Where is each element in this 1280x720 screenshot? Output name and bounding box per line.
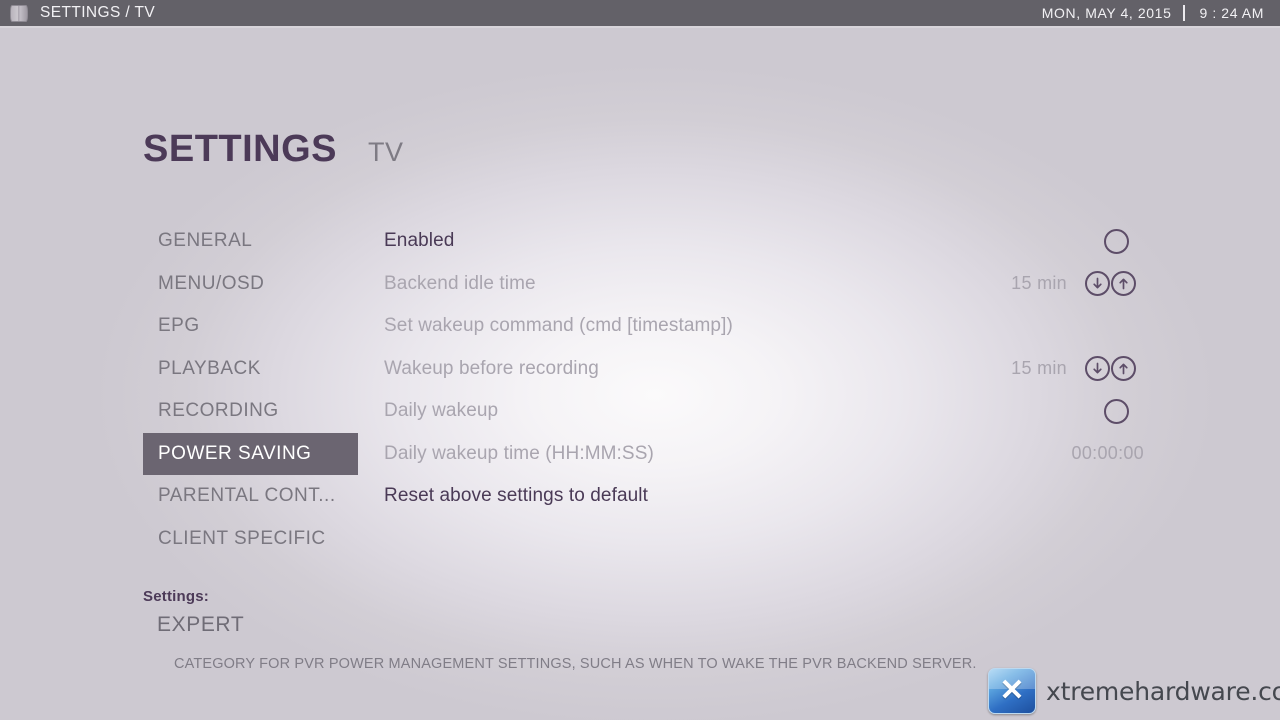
toggle-radio-button[interactable]	[1104, 229, 1129, 254]
sidebar-item-playback[interactable]: PLAYBACK	[143, 348, 358, 391]
setting-row[interactable]: Daily wakeup	[384, 390, 1144, 433]
setting-label: Reset above settings to default	[384, 485, 648, 507]
sidebar-item-epg[interactable]: EPG	[143, 305, 358, 348]
setting-row[interactable]: Enabled	[384, 220, 1144, 263]
watermark-text: xtremehardware.com	[1046, 677, 1280, 706]
setting-control-area: 15 min	[1011, 271, 1144, 296]
time-label: 9 : 24 AM	[1199, 5, 1264, 21]
settings-level-value: EXPERT	[157, 613, 1143, 637]
setting-label: Wakeup before recording	[384, 358, 599, 380]
setting-control-area: 15 min	[1011, 356, 1144, 381]
arrow-down-icon[interactable]	[1085, 356, 1110, 381]
toggle-radio-button[interactable]	[1104, 399, 1129, 424]
setting-label: Set wakeup command (cmd [timestamp])	[384, 315, 733, 337]
setting-control-area: 00:00:00	[1072, 443, 1144, 464]
sidebar-item-label: PARENTAL CONT...	[158, 485, 336, 507]
sidebar-item-general[interactable]: GENERAL	[143, 220, 358, 263]
page-title-main: SETTINGS	[143, 128, 337, 171]
clock-area: MON, MAY 4, 2015 9 : 24 AM	[1042, 5, 1264, 21]
setting-row[interactable]: Wakeup before recording15 min	[384, 348, 1144, 391]
sidebar-item-client-specific[interactable]: CLIENT SPECIFIC	[143, 518, 358, 561]
settings-level-label: Settings:	[143, 588, 1143, 605]
sidebar-item-menu-osd[interactable]: MENU/OSD	[143, 263, 358, 306]
sidebar-item-recording[interactable]: RECORDING	[143, 390, 358, 433]
setting-value: 00:00:00	[1072, 443, 1144, 464]
arrow-up-icon[interactable]	[1111, 271, 1136, 296]
setting-value: 15 min	[1011, 358, 1067, 379]
watermark: ✕ xtremehardware.com	[988, 668, 1280, 714]
clock-divider	[1183, 5, 1185, 21]
sidebar-item-label: RECORDING	[158, 400, 279, 422]
setting-control-area	[1104, 229, 1144, 254]
setting-label: Daily wakeup time (HH:MM:SS)	[384, 443, 654, 465]
arrow-down-icon[interactable]	[1085, 271, 1110, 296]
value-spinner	[1085, 271, 1136, 296]
watermark-logo-icon: ✕	[988, 668, 1036, 714]
sidebar-item-label: GENERAL	[158, 230, 252, 252]
setting-control-area	[1104, 399, 1144, 424]
setting-row[interactable]: Reset above settings to default	[384, 475, 1144, 518]
date-label: MON, MAY 4, 2015	[1042, 5, 1172, 21]
cube-icon	[10, 3, 28, 23]
top-bar: SETTINGS / TV MON, MAY 4, 2015 9 : 24 AM	[0, 0, 1280, 28]
page-title-section: TV	[368, 137, 404, 168]
setting-row[interactable]: Backend idle time15 min	[384, 263, 1144, 306]
sidebar: GENERALMENU/OSDEPGPLAYBACKRECORDINGPOWER…	[143, 220, 358, 560]
settings-list: EnabledBackend idle time15 minSet wakeup…	[384, 220, 1144, 518]
watermark-x-glyph: ✕	[999, 676, 1024, 706]
footer: Settings: EXPERT CATEGORY FOR PVR POWER …	[143, 588, 1143, 672]
sidebar-item-label: CLIENT SPECIFIC	[158, 528, 326, 550]
value-spinner	[1085, 356, 1136, 381]
page-title: SETTINGS TV	[143, 128, 404, 171]
arrow-up-icon[interactable]	[1111, 356, 1136, 381]
sidebar-item-label: MENU/OSD	[158, 273, 264, 295]
breadcrumb: SETTINGS / TV	[40, 4, 155, 22]
sidebar-item-label: PLAYBACK	[158, 358, 261, 380]
setting-label: Backend idle time	[384, 273, 536, 295]
setting-value: 15 min	[1011, 273, 1067, 294]
sidebar-item-label: EPG	[158, 315, 200, 337]
kodi-settings-screen: SETTINGS / TV MON, MAY 4, 2015 9 : 24 AM…	[0, 0, 1280, 720]
setting-label: Enabled	[384, 230, 454, 252]
sidebar-item-label: POWER SAVING	[158, 443, 311, 465]
setting-row[interactable]: Set wakeup command (cmd [timestamp])	[384, 305, 1144, 348]
setting-label: Daily wakeup	[384, 400, 498, 422]
sidebar-item-parental-cont[interactable]: PARENTAL CONT...	[143, 475, 358, 518]
sidebar-item-power-saving[interactable]: POWER SAVING	[143, 433, 358, 476]
setting-row[interactable]: Daily wakeup time (HH:MM:SS)00:00:00	[384, 433, 1144, 476]
